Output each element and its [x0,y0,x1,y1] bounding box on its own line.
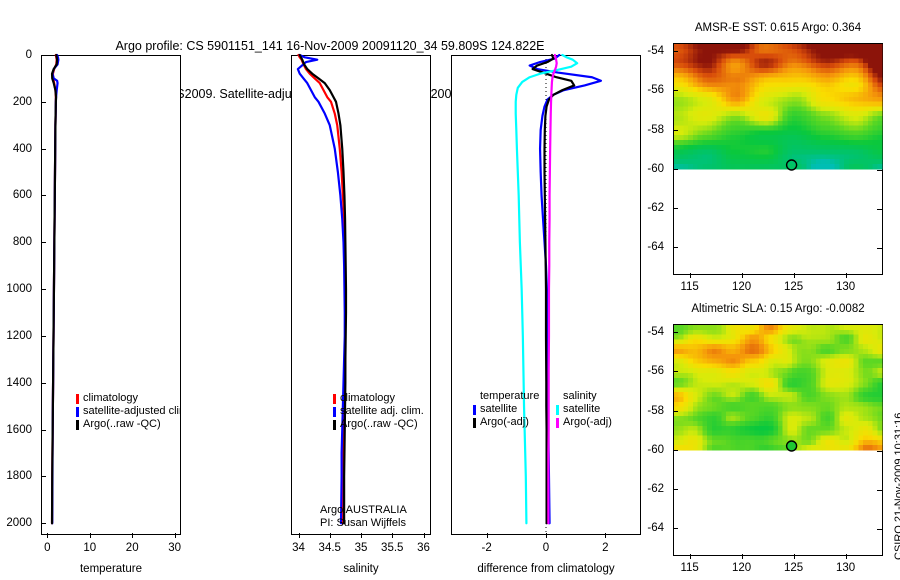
y-tick-label: 0 [26,49,32,61]
map-y-tick-label: -60 [647,444,664,456]
map-y-tick-mark [673,51,678,52]
y-tick-label: 600 [13,189,32,201]
attribution-block: Argo AUSTRALIA PI: Susan Wijffels [293,503,430,533]
map-x-tick-label: 115 [680,281,698,293]
x-tick-mark [546,533,547,538]
map-x-tick-mark [742,554,743,559]
sst-map-image [674,44,882,274]
y-tick-label: 1600 [6,424,32,436]
map-y-tick-label: -58 [647,405,664,417]
map-x-tick-mark [794,554,795,559]
x-tick-label: 35 [355,542,368,554]
legend-entry: climatology [333,392,424,405]
x-tick-mark [132,533,133,538]
legend-entry: satellite-adjusted climatolo [76,405,180,418]
legend-label: climatology [83,392,138,405]
x-tick-label: 34 [292,542,305,554]
map-y-tick-label: -58 [647,124,664,136]
legend-label: Argo(..raw -QC) [340,418,418,431]
salinity-legend: climatologysatellite adj. clim.Argo(..ra… [333,392,424,431]
x-tick-mark [424,533,425,538]
legend-label: satellite-adjusted climatolo [83,405,180,418]
x-tick-label: 10 [83,542,96,554]
sst-map-y-axis-ticks: -54-56-58-60-62-64 [633,43,669,275]
x-tick-label: 34.5 [319,542,341,554]
y-tick-mark [41,476,46,477]
y-tick-label: 1400 [6,377,32,389]
map-y-tick-mark [673,371,678,372]
y-tick-label: 1800 [6,470,32,482]
sla-map-title: Altimetric SLA: 0.15 Argo: -0.0082 [663,303,893,315]
map-x-tick-label: 115 [680,562,698,574]
map-y-tick-label: -56 [647,365,664,377]
sla-map-image [674,325,882,555]
salinity-plot-curves [291,55,431,535]
map-y-tick-mark [673,528,678,529]
legend-entry: satellite adj. clim. [333,405,424,418]
y-tick-label: 1200 [6,330,32,342]
map-x-tick-mark [794,273,795,278]
salinity-legend-clip: climatologysatellite adj. clim.Argo(..ra… [293,389,430,435]
map-x-tick-mark [690,273,691,278]
y-tick-mark [41,55,46,56]
y-tick-label: 2000 [6,517,32,529]
x-tick-mark [392,533,393,538]
map-x-tick-label: 125 [784,281,803,293]
attribution-pi: PI: Susan Wijffels [320,517,407,530]
legend-label: Argo(-adj) [480,416,529,429]
x-tick-label: 0 [543,542,549,554]
legend-entry: Argo(..raw -QC) [76,418,180,431]
x-tick-label: 36 [417,542,430,554]
map-x-tick-mark [846,554,847,559]
legend-label: satellite [563,403,600,416]
legend-label: satellite [480,403,517,416]
y-tick-mark [41,336,46,337]
map-y-tick-mark [673,90,678,91]
sla-map-y-axis-ticks: -54-56-58-60-62-64 [633,324,669,556]
legend-entry: satellite [473,403,539,416]
legend-label: Argo(-adj) [563,416,612,429]
legend-color-swatch [556,418,559,428]
map-x-tick-mark [846,273,847,278]
x-tick-mark [361,533,362,538]
legend-entry: Argo(-adj) [473,416,539,429]
y-tick-label: 800 [13,236,32,248]
legend-label: Argo(..raw -QC) [83,418,161,431]
legend-color-swatch [473,418,476,428]
map-x-tick-label: 130 [836,562,855,574]
legend-entry: climatology [76,392,180,405]
difference-legend-temperature: temperaturesatelliteArgo(-adj) [473,390,539,429]
map-y-tick-mark [673,247,678,248]
x-tick-mark [47,533,48,538]
map-y-tick-mark [673,169,678,170]
legend-color-swatch [333,394,336,404]
y-tick-mark [41,195,46,196]
map-y-tick-label: -62 [647,483,664,495]
difference-legend-salinity: salinitysatelliteArgo(-adj) [556,390,612,429]
difference-plot-curves [451,55,641,535]
map-y-tick-label: -54 [647,45,664,57]
legend-group-header: salinity [556,390,612,403]
legend-color-swatch [76,420,79,430]
temperature-legend: climatologysatellite-adjusted climatoloA… [76,392,180,431]
y-tick-label: 400 [13,143,32,155]
argo-position-marker [787,441,797,451]
map-x-tick-mark [690,554,691,559]
map-y-tick-mark [673,208,678,209]
y-tick-mark [41,289,46,290]
x-tick-label: 2 [602,542,608,554]
x-tick-mark [175,533,176,538]
map-y-tick-mark [673,130,678,131]
legend-color-swatch [333,407,336,417]
legend-color-swatch [76,407,79,417]
legend-color-swatch [556,405,559,415]
temperature-plot-curves [41,55,181,535]
map-y-tick-mark [673,489,678,490]
y-tick-label: 1000 [6,283,32,295]
x-tick-mark [299,533,300,538]
map-y-tick-mark [673,332,678,333]
map-x-tick-label: 130 [836,281,855,293]
map-y-tick-mark [673,411,678,412]
sst-map-title: AMSR-E SST: 0.615 Argo: 0.364 [663,22,893,34]
legend-entry: Argo(..raw -QC) [333,418,424,431]
legend-color-swatch [76,394,79,404]
map-x-tick-label: 125 [784,562,803,574]
x-tick-mark [90,533,91,538]
map-y-tick-mark [673,450,678,451]
map-y-tick-label: -54 [647,326,664,338]
figure-title-line1: Argo profile: CS 5901151_141 16-Nov-2009… [0,38,660,54]
salinity-x-axis-label: salinity [291,563,431,575]
y-tick-label: 200 [13,96,32,108]
legend-color-swatch [473,405,476,415]
legend-label: climatology [340,392,395,405]
x-tick-mark [605,533,606,538]
map-y-tick-label: -60 [647,163,664,175]
legend-entry: Argo(-adj) [556,416,612,429]
csiro-credit: CSIRO 21-Nov-2009 10:31:16 [893,413,900,560]
difference-legend-clip: temperaturesatelliteArgo(-adj) salinitys… [453,389,639,435]
x-tick-label: 35.5 [381,542,403,554]
temperature-x-axis-label: temperature [41,563,181,575]
map-y-tick-label: -62 [647,202,664,214]
x-tick-label: 20 [126,542,139,554]
map-y-tick-label: -64 [647,241,664,253]
difference-x-axis-label: difference from climatology [443,563,649,575]
temperature-legend-clip: climatologysatellite-adjusted climatoloA… [43,389,180,435]
y-tick-mark [41,242,46,243]
y-tick-mark [41,102,46,103]
x-tick-mark [330,533,331,538]
attribution-org: Argo AUSTRALIA [320,504,407,517]
legend-label: satellite adj. clim. [340,405,424,418]
map-x-tick-label: 120 [732,562,751,574]
x-tick-label: 30 [168,542,181,554]
x-tick-label: 0 [44,542,50,554]
x-tick-mark [487,533,488,538]
temperature-y-axis-ticks: 0200400600800100012001400160018002000 [0,55,37,535]
y-tick-mark [41,523,46,524]
y-tick-mark [41,149,46,150]
x-tick-label: -2 [482,542,492,554]
map-y-tick-label: -64 [647,522,664,534]
legend-entry: satellite [556,403,612,416]
y-tick-mark [41,383,46,384]
map-x-tick-mark [742,273,743,278]
map-y-tick-label: -56 [647,84,664,96]
map-x-tick-label: 120 [732,281,751,293]
legend-color-swatch [333,420,336,430]
legend-group-header: temperature [473,390,539,403]
